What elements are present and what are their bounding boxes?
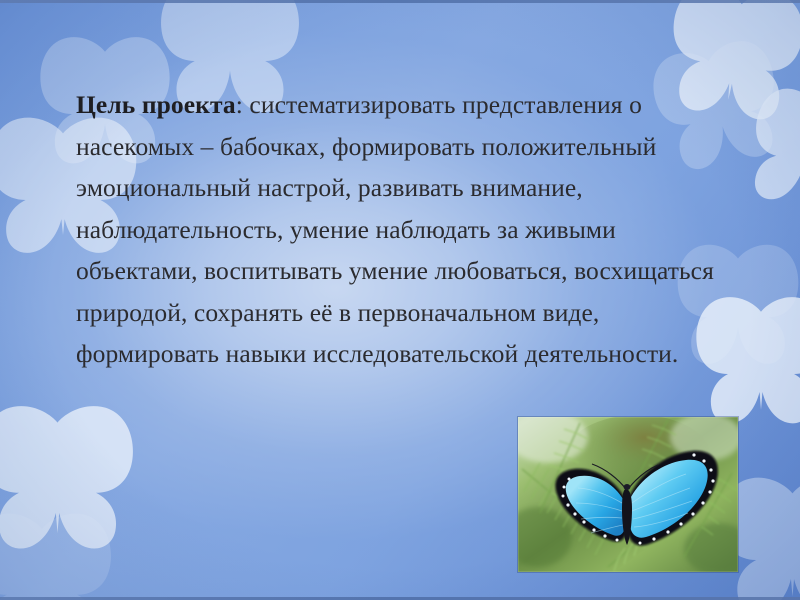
project-goal-description: систематизировать представления о насеко…	[76, 90, 714, 368]
butterfly-photo-illustration	[518, 417, 738, 572]
presentation-slide: Цель проекта: систематизировать представ…	[0, 0, 800, 600]
project-goal-label: Цель проекта	[76, 90, 236, 119]
slide-top-border	[0, 0, 800, 3]
butterfly-photo	[518, 417, 738, 572]
slide-body-text: Цель проекта: систематизировать представ…	[76, 84, 736, 375]
label-separator: :	[236, 90, 250, 119]
